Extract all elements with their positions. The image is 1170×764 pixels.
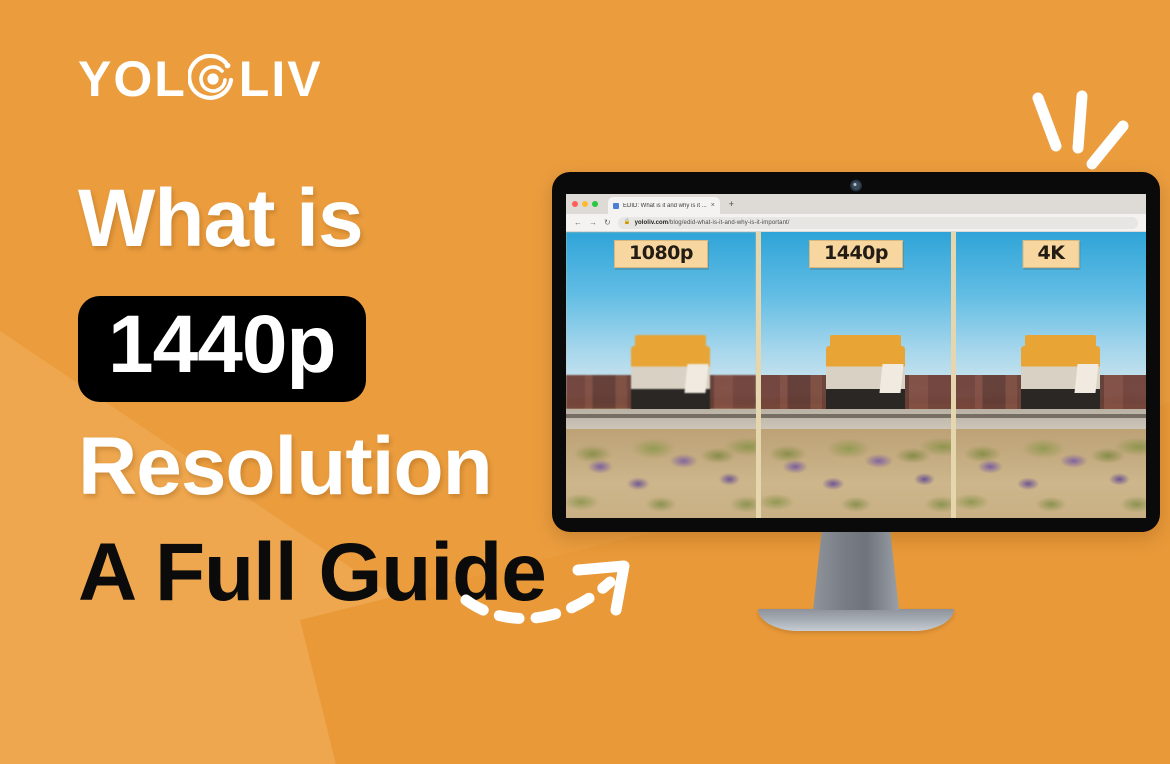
monitor-bezel: EDID: What is it and why is it ... × + ←… xyxy=(552,172,1160,532)
resolution-badge-1: 1080p xyxy=(614,240,708,268)
brand-logo: YOL LIV xyxy=(78,52,323,106)
headline-line-2: 1440p xyxy=(108,304,336,386)
resolution-badge-label-2: 1440p xyxy=(824,244,888,263)
monitor-screen: EDID: What is it and why is it ... × + ←… xyxy=(566,194,1146,518)
resolution-badge-label-1: 1080p xyxy=(629,244,693,263)
close-window-button[interactable] xyxy=(572,201,578,207)
new-tab-button[interactable]: + xyxy=(729,200,734,209)
site-favicon-icon xyxy=(613,203,619,209)
logo-text-right: LIV xyxy=(239,54,323,104)
browser-toolbar: ← → ↻ 🔒 yololiv.com/blog/edid-what-is-it… xyxy=(566,214,1146,232)
webcam-icon xyxy=(852,181,861,190)
wildflowers xyxy=(566,404,756,518)
browser-tab-active[interactable]: EDID: What is it and why is it ... × xyxy=(608,197,720,214)
monitor-stand-base xyxy=(758,609,954,631)
tab-title: EDID: What is it and why is it ... xyxy=(623,203,707,209)
close-tab-icon[interactable]: × xyxy=(711,202,715,209)
url-path: /blog/edid-what-is-it-and-why-is-it-impo… xyxy=(668,220,789,226)
resolution-comparison-viewport: 1080p 1440p xyxy=(566,232,1146,518)
headline-line-3: Resolution xyxy=(78,426,598,508)
resolution-badge-3: 4K xyxy=(1023,240,1080,268)
url-domain: yololiv.com xyxy=(635,220,669,226)
maximize-window-button[interactable] xyxy=(592,201,598,207)
headline-line-1: What is xyxy=(78,178,598,260)
comparison-panel-1440p: 1440p xyxy=(761,232,951,518)
sparkle-burst-icon xyxy=(1020,88,1140,183)
window-traffic-lights[interactable] xyxy=(572,201,598,207)
wildflowers xyxy=(761,404,951,518)
yololiv-swirl-mark-icon xyxy=(188,54,238,104)
resolution-badge-label-3: 4K xyxy=(1038,244,1065,263)
desktop-monitor: EDID: What is it and why is it ... × + ←… xyxy=(552,172,1160,631)
comparison-panel-4k: 4K xyxy=(956,232,1146,518)
back-icon[interactable]: ← xyxy=(574,219,582,227)
page-title: What is 1440p Resolution A Full Guide xyxy=(78,178,598,614)
resolution-badge-2: 1440p xyxy=(809,240,903,268)
url-text: yololiv.com/blog/edid-what-is-it-and-why… xyxy=(635,220,790,226)
forward-icon[interactable]: → xyxy=(589,219,597,227)
lock-icon: 🔒 xyxy=(624,220,631,226)
wildflowers xyxy=(956,404,1146,518)
comparison-panel-1080p: 1080p xyxy=(566,232,756,518)
monitor-stand-neck xyxy=(813,532,899,610)
logo-text-left: YOL xyxy=(78,54,187,104)
reload-icon[interactable]: ↻ xyxy=(604,219,611,227)
browser-tab-bar: EDID: What is it and why is it ... × + xyxy=(566,194,1146,214)
address-bar[interactable]: 🔒 yololiv.com/blog/edid-what-is-it-and-w… xyxy=(618,217,1138,229)
minimize-window-button[interactable] xyxy=(582,201,588,207)
headline-highlight-pill: 1440p xyxy=(78,296,366,402)
